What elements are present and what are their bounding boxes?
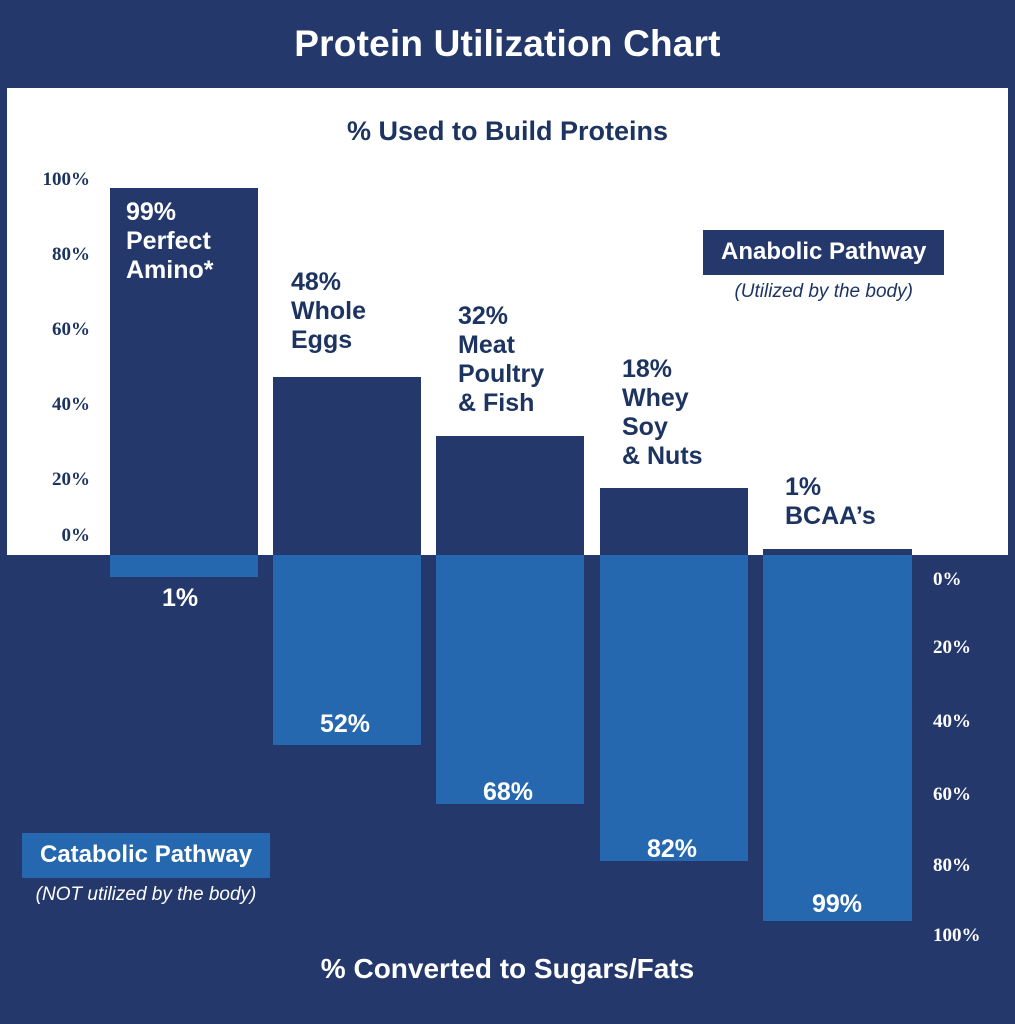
bar-top-meat-poultry-fish: [436, 436, 584, 555]
anabolic-note: (Utilized by the body): [703, 281, 944, 303]
catabolic-chip: Catabolic Pathway: [22, 833, 270, 878]
right-axis-tick: 80%: [933, 855, 971, 877]
bar-bottom-label-meat-poultry-fish: 68%: [483, 778, 533, 807]
anabolic-chip: Anabolic Pathway: [703, 230, 944, 275]
left-axis-tick: 20%: [52, 469, 90, 491]
left-axis-tick: 0%: [62, 525, 91, 547]
bar-top-label-meat-poultry-fish: 32% Meat Poultry & Fish: [458, 302, 544, 418]
bar-bottom-perfect-amino: [110, 555, 258, 577]
right-axis-tick: 60%: [933, 784, 971, 806]
left-axis-tick: 60%: [52, 319, 90, 341]
catabolic-note: (NOT utilized by the body): [22, 884, 270, 906]
anabolic-callout: Anabolic Pathway (Utilized by the body): [703, 230, 944, 303]
right-axis-tick: 100%: [933, 925, 981, 947]
bar-bottom-bcaas: [763, 555, 912, 921]
bar-top-label-bcaas: 1% BCAA’s: [785, 473, 876, 531]
bar-bottom-meat-poultry-fish: [436, 555, 584, 804]
bar-top-label-whey-soy-nuts: 18% Whey Soy & Nuts: [622, 355, 703, 471]
lower-axis-title: % Converted to Sugars/Fats: [0, 953, 1015, 985]
right-axis-tick: 0%: [933, 569, 962, 591]
bar-bottom-whey-soy-nuts: [600, 555, 748, 861]
right-axis: 0%20%40%60%80%100%: [915, 555, 1015, 955]
catabolic-callout: Catabolic Pathway (NOT utilized by the b…: [22, 833, 270, 906]
left-axis-tick: 80%: [52, 244, 90, 266]
bar-bottom-label-bcaas: 99%: [812, 890, 862, 919]
right-axis-tick: 40%: [933, 711, 971, 733]
left-axis-tick: 40%: [52, 394, 90, 416]
bar-bottom-label-whey-soy-nuts: 82%: [647, 835, 697, 864]
bar-bottom-label-perfect-amino: 1%: [162, 584, 198, 613]
chart-root: Protein Utilization Chart % Used to Buil…: [0, 0, 1015, 1024]
bar-top-label-perfect-amino: 99% Perfect Amino*: [126, 198, 214, 285]
right-axis-tick: 20%: [933, 637, 971, 659]
bar-top-whole-eggs: [273, 377, 421, 555]
left-axis-tick: 100%: [43, 169, 91, 191]
bar-bottom-label-whole-eggs: 52%: [320, 710, 370, 739]
bar-top-whey-soy-nuts: [600, 488, 748, 555]
bar-top-label-whole-eggs: 48% Whole Eggs: [291, 268, 366, 355]
